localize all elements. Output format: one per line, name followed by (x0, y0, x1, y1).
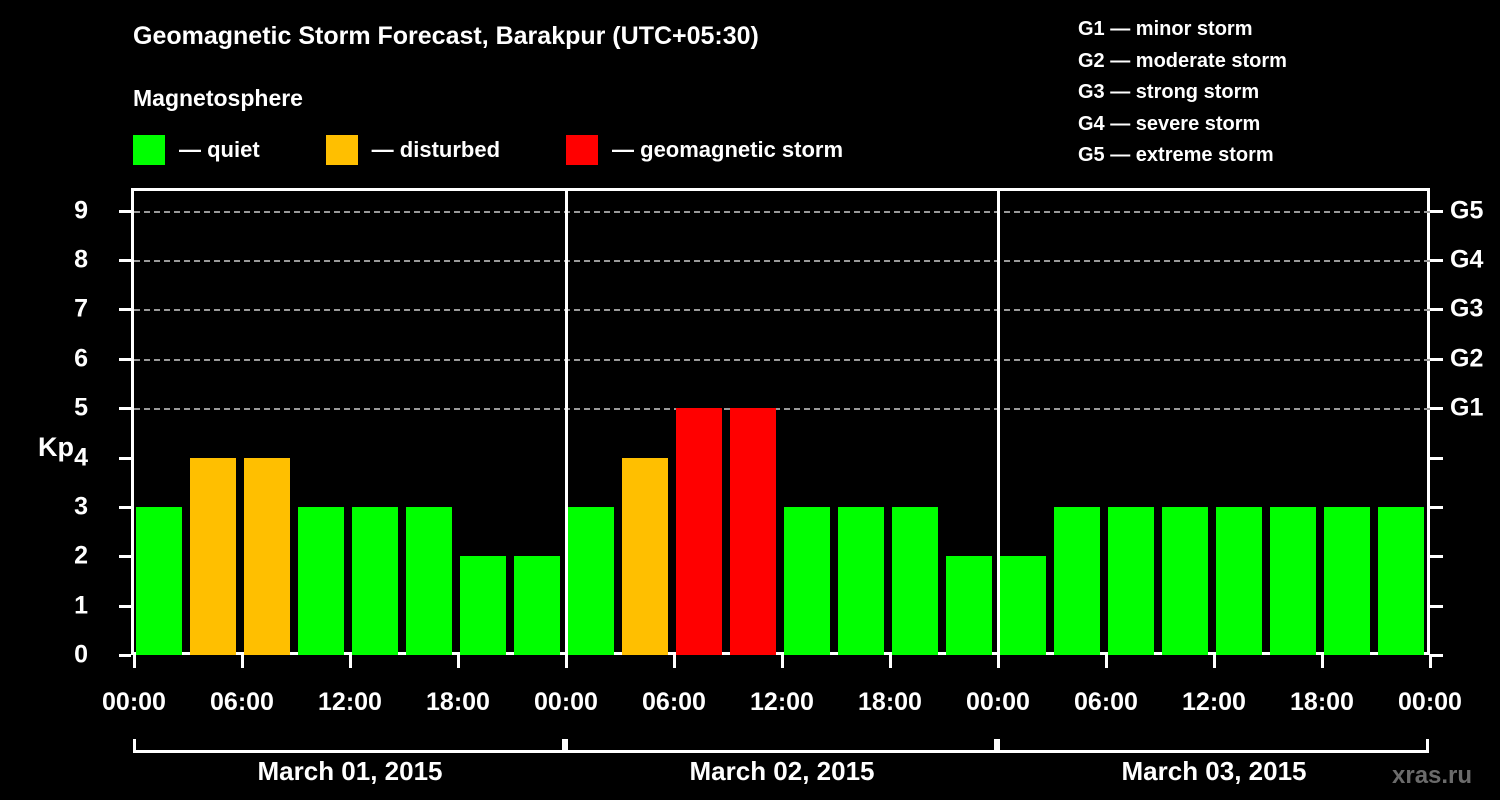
g-tick-label-g1: G1 (1450, 394, 1483, 423)
bar (622, 458, 668, 655)
day-separator (997, 188, 1000, 655)
x-tick-mark (1321, 655, 1324, 668)
y-tick-mark (119, 555, 131, 558)
legend-heading: Magnetosphere (133, 85, 303, 112)
g-tick-mark (1430, 358, 1443, 361)
y-tick-label: 0 (48, 641, 88, 670)
bar (730, 408, 776, 655)
bar (1216, 507, 1262, 655)
legend-label-storm: — geomagnetic storm (612, 137, 843, 163)
bar (1108, 507, 1154, 655)
geomagnetic-forecast-chart: Geomagnetic Storm Forecast, Barakpur (UT… (0, 0, 1500, 800)
plot-area (134, 191, 1430, 655)
magnetosphere-legend: — quiet— disturbed— geomagnetic storm (133, 134, 843, 166)
y-tick-label: 9 (48, 196, 88, 225)
bar (1270, 507, 1316, 655)
day-bracket (997, 739, 1429, 753)
g-tick-mark (1430, 407, 1443, 410)
bar (1000, 556, 1046, 655)
legend-item-quiet: — quiet (133, 134, 260, 166)
y-tick-mark (119, 605, 131, 608)
x-tick-mark (133, 655, 136, 668)
legend-label-quiet: — quiet (179, 137, 260, 163)
x-tick-mark (1213, 655, 1216, 668)
x-tick-label: 06:00 (210, 688, 274, 717)
y-tick-label: 1 (48, 591, 88, 620)
x-tick-mark (1105, 655, 1108, 668)
g-tick-label-g5: G5 (1450, 196, 1483, 225)
bar (136, 507, 182, 655)
y-tick-mark (119, 308, 131, 311)
bar (568, 507, 614, 655)
g-tick-mark (1430, 210, 1443, 213)
bar (892, 507, 938, 655)
x-tick-label: 18:00 (858, 688, 922, 717)
x-tick-label: 18:00 (1290, 688, 1354, 717)
x-tick-label: 12:00 (318, 688, 382, 717)
watermark: xras.ru (1392, 762, 1472, 790)
bar (1378, 507, 1424, 655)
gscale-line-g1: G1 — minor storm (1078, 14, 1287, 46)
bar (298, 507, 344, 655)
g-tick-mark-minor (1430, 506, 1443, 509)
x-tick-label: 06:00 (642, 688, 706, 717)
y-tick-mark (119, 407, 131, 410)
legend-item-storm: — geomagnetic storm (566, 134, 843, 166)
bar (1054, 507, 1100, 655)
gscale-legend: G1 — minor stormG2 — moderate stormG3 — … (1078, 14, 1287, 172)
day-label: March 03, 2015 (1121, 756, 1306, 787)
bar (784, 507, 830, 655)
g-tick-mark (1430, 259, 1443, 262)
legend-swatch-disturbed (326, 135, 358, 165)
x-tick-label: 06:00 (1074, 688, 1138, 717)
g-tick-label-g3: G3 (1450, 295, 1483, 324)
bar (514, 556, 560, 655)
x-tick-label: 12:00 (1182, 688, 1246, 717)
y-tick-mark (119, 457, 131, 460)
x-tick-label: 18:00 (426, 688, 490, 717)
day-label: March 02, 2015 (689, 756, 874, 787)
legend-swatch-storm (566, 135, 598, 165)
y-tick-label: 7 (48, 295, 88, 324)
x-tick-mark (349, 655, 352, 668)
gscale-line-g3: G3 — strong storm (1078, 77, 1287, 109)
x-tick-mark (241, 655, 244, 668)
x-tick-label: 00:00 (1398, 688, 1462, 717)
bar (190, 458, 236, 655)
g-tick-mark-minor (1430, 555, 1443, 558)
bars-layer (134, 191, 1430, 655)
y-tick-label: 3 (48, 492, 88, 521)
x-tick-mark (457, 655, 460, 668)
bar (838, 507, 884, 655)
day-bracket (133, 739, 565, 753)
gscale-line-g5: G5 — extreme storm (1078, 140, 1287, 172)
day-separator (565, 188, 568, 655)
legend-label-disturbed: — disturbed (372, 137, 500, 163)
bar (1324, 507, 1370, 655)
bar (406, 507, 452, 655)
page-title: Geomagnetic Storm Forecast, Barakpur (UT… (133, 22, 759, 51)
bar (460, 556, 506, 655)
y-tick-label: 6 (48, 344, 88, 373)
x-tick-mark (997, 655, 1000, 668)
g-tick-label-g4: G4 (1450, 246, 1483, 275)
bar (1162, 507, 1208, 655)
y-tick-mark (119, 654, 131, 657)
y-tick-mark (119, 259, 131, 262)
bar (244, 458, 290, 655)
g-tick-mark-minor (1430, 605, 1443, 608)
x-tick-mark (1429, 655, 1432, 668)
bar (676, 408, 722, 655)
x-tick-mark (565, 655, 568, 668)
y-tick-mark (119, 506, 131, 509)
x-tick-label: 00:00 (534, 688, 598, 717)
x-tick-mark (781, 655, 784, 668)
y-tick-label: 4 (48, 443, 88, 472)
day-bracket (565, 739, 997, 753)
x-tick-label: 00:00 (966, 688, 1030, 717)
y-tick-mark (119, 358, 131, 361)
bar (946, 556, 992, 655)
g-tick-mark (1430, 308, 1443, 311)
day-label: March 01, 2015 (257, 756, 442, 787)
x-tick-mark (889, 655, 892, 668)
x-tick-label: 12:00 (750, 688, 814, 717)
legend-swatch-quiet (133, 135, 165, 165)
y-tick-mark (119, 210, 131, 213)
y-tick-label: 5 (48, 394, 88, 423)
g-tick-label-g2: G2 (1450, 344, 1483, 373)
y-tick-label: 2 (48, 542, 88, 571)
x-tick-label: 00:00 (102, 688, 166, 717)
g-tick-mark-minor (1430, 457, 1443, 460)
x-tick-mark (673, 655, 676, 668)
legend-item-disturbed: — disturbed (326, 134, 500, 166)
gscale-line-g4: G4 — severe storm (1078, 109, 1287, 141)
gscale-line-g2: G2 — moderate storm (1078, 46, 1287, 78)
bar (352, 507, 398, 655)
y-tick-label: 8 (48, 246, 88, 275)
